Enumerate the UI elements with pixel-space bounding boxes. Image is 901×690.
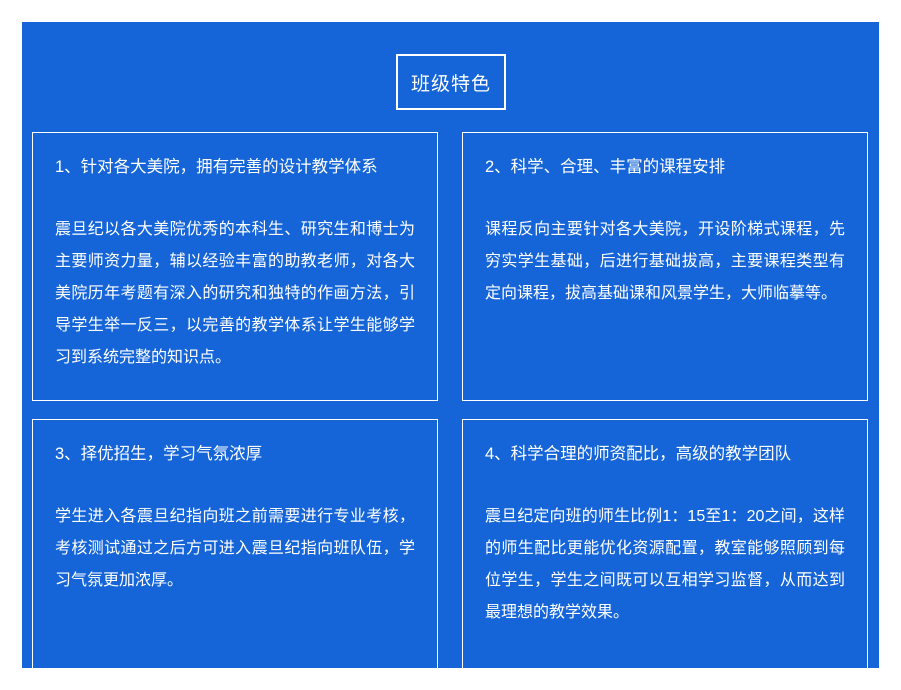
section-title-box: 班级特色 xyxy=(396,54,506,110)
feature-card-grid: 1、针对各大美院，拥有完善的设计教学体系 震旦纪以各大美院优秀的本科生、研究生和… xyxy=(32,132,869,669)
feature-card-heading: 1、针对各大美院，拥有完善的设计教学体系 xyxy=(55,155,415,180)
feature-card-1: 1、针对各大美院，拥有完善的设计教学体系 震旦纪以各大美院优秀的本科生、研究生和… xyxy=(32,132,438,401)
feature-card-3: 3、择优招生，学习气氛浓厚 学生进入各震旦纪指向班之前需要进行专业考核，考核测试… xyxy=(32,419,438,669)
feature-card-2: 2、科学、合理、丰富的课程安排 课程反向主要针对各大美院，开设阶梯式课程，先穷实… xyxy=(462,132,868,401)
feature-card-heading: 3、择优招生，学习气氛浓厚 xyxy=(55,442,415,467)
feature-card-heading: 4、科学合理的师资配比，高级的教学团队 xyxy=(485,442,845,467)
feature-card-body: 震旦纪定向班的师生比例1：15至1：20之间，这样的师生配比更能优化资源配置，教… xyxy=(485,501,845,629)
feature-card-4: 4、科学合理的师资配比，高级的教学团队 震旦纪定向班的师生比例1：15至1：20… xyxy=(462,419,868,669)
page-title: 班级特色 xyxy=(411,69,491,96)
feature-card-body: 震旦纪以各大美院优秀的本科生、研究生和博士为主要师资力量，辅以经验丰富的助教老师… xyxy=(55,214,415,374)
feature-card-body: 学生进入各震旦纪指向班之前需要进行专业考核，考核测试通过之后方可进入震旦纪指向班… xyxy=(55,501,415,597)
feature-card-heading: 2、科学、合理、丰富的课程安排 xyxy=(485,155,845,180)
feature-panel: 班级特色 1、针对各大美院，拥有完善的设计教学体系 震旦纪以各大美院优秀的本科生… xyxy=(22,22,879,668)
feature-card-body: 课程反向主要针对各大美院，开设阶梯式课程，先穷实学生基础，后进行基础拔高，主要课… xyxy=(485,214,845,310)
